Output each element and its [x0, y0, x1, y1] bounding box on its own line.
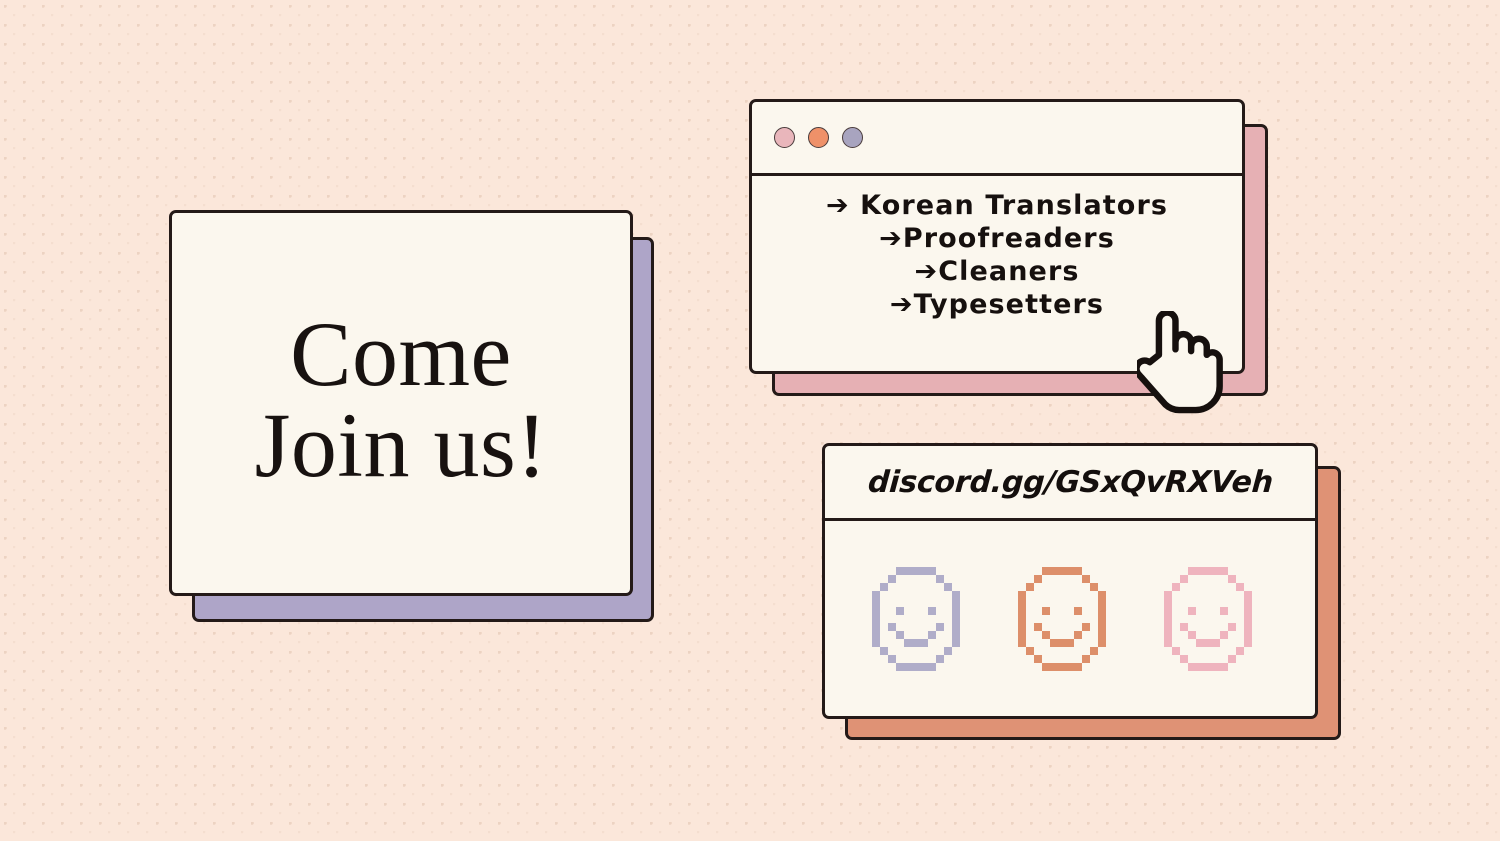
smiley-row	[825, 521, 1315, 716]
come-join-us-card: Come Join us!	[169, 210, 633, 596]
discord-invite-window: discord.gg/GSxQvRXVeh	[822, 443, 1318, 719]
join-heading-line-2: Join us!	[255, 400, 548, 491]
arrow-icon: ➔	[826, 190, 850, 221]
role-item-label: Korean Translators	[860, 190, 1168, 221]
join-heading-line-1: Come	[255, 309, 548, 400]
roles-list: ➔ Korean Translators ➔Proofreaders ➔Clea…	[752, 176, 1242, 322]
role-item-cleaners: ➔Cleaners	[776, 256, 1218, 289]
arrow-icon: ➔	[914, 256, 938, 287]
roles-window: ➔ Korean Translators ➔Proofreaders ➔Clea…	[749, 99, 1245, 374]
window-dot-orange[interactable]	[808, 127, 829, 148]
arrow-icon: ➔	[879, 223, 903, 254]
smiley-face-lavender	[872, 567, 976, 671]
join-card-heading: Come Join us!	[255, 309, 548, 497]
role-item-korean-translators: ➔ Korean Translators	[776, 190, 1218, 223]
role-item-label: Typesetters	[914, 289, 1104, 320]
discord-url-bar[interactable]: discord.gg/GSxQvRXVeh	[825, 446, 1315, 521]
smiley-face-pink	[1164, 567, 1268, 671]
role-item-proofreaders: ➔Proofreaders	[776, 223, 1218, 256]
smiley-face-orange	[1018, 567, 1122, 671]
discord-invite-url[interactable]: discord.gg/GSxQvRXVeh	[866, 465, 1273, 500]
role-item-label: Cleaners	[938, 256, 1079, 287]
role-item-label: Proofreaders	[903, 223, 1115, 254]
role-item-typesetters: ➔Typesetters	[776, 289, 1218, 322]
window-dot-purple[interactable]	[842, 127, 863, 148]
arrow-icon: ➔	[890, 289, 914, 320]
roles-window-titlebar	[752, 102, 1242, 176]
window-dot-pink[interactable]	[774, 127, 795, 148]
poster-canvas: Come Join us! ➔ Korean Translators ➔Proo…	[0, 0, 1500, 841]
